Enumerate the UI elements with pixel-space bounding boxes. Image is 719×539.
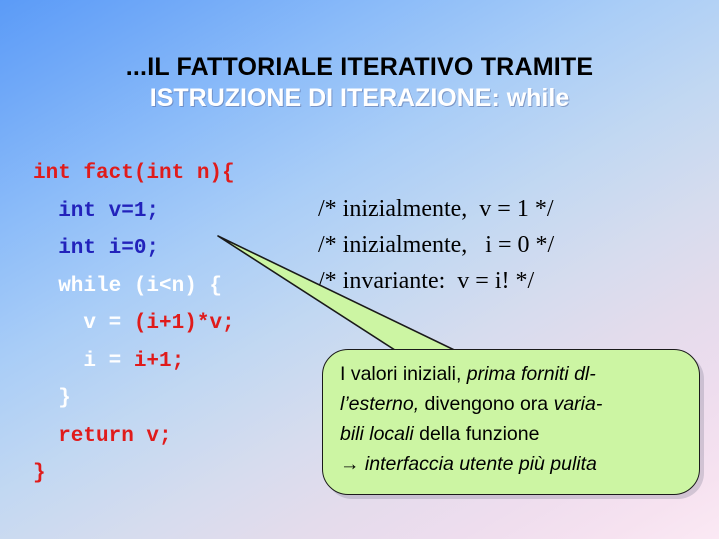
code-line: int i=0; — [33, 230, 235, 268]
code-line: int v=1; — [33, 193, 235, 231]
callout-text-run: divengono ora — [419, 393, 553, 415]
callout-text-run: della funzione — [414, 423, 540, 445]
code-token: i+1; — [134, 350, 184, 373]
callout-line: I valori iniziali, prima forniti dl- — [340, 359, 692, 389]
callout-text-run: varia- — [554, 393, 603, 415]
code-line: } — [33, 455, 235, 493]
callout-text-run: → — [340, 453, 365, 475]
code-line: i = i+1; — [33, 343, 235, 381]
code-token: i = — [33, 350, 134, 373]
code-listing: int fact(int n){ int v=1; int i=0; while… — [33, 155, 235, 493]
code-token: while (i<n) { — [33, 275, 222, 298]
callout-line: → interfaccia utente più pulita — [340, 449, 692, 479]
page-title-line2: ISTRUZIONE DI ITERAZIONE: while — [0, 82, 719, 115]
callout-text-run: interfaccia utente più pulita — [365, 453, 597, 475]
code-comment: /* inizialmente, i = 0 */ — [318, 227, 554, 263]
page-title-line1: ...IL FATTORIALE ITERATIVO TRAMITE — [0, 52, 719, 82]
slide-canvas: ...IL FATTORIALE ITERATIVO TRAMITE ISTRU… — [0, 0, 719, 539]
code-token: int fact(int n){ — [33, 162, 235, 185]
code-comments-column: /* inizialmente, v = 1 *//* inizialmente… — [318, 191, 554, 299]
callout-line: bili locali della funzione — [340, 419, 692, 449]
code-token: } — [33, 462, 46, 485]
callout-text-run: I valori iniziali, — [340, 363, 467, 385]
title-block: ...IL FATTORIALE ITERATIVO TRAMITE ISTRU… — [0, 52, 719, 115]
callout-line: l’esterno, divengono ora varia- — [340, 389, 692, 419]
callout-text-run: prima forniti dl- — [467, 363, 596, 385]
callout-text-run: bili locali — [340, 423, 414, 445]
code-line: v = (i+1)*v; — [33, 305, 235, 343]
code-comment: /* invariante: v = i! */ — [318, 263, 554, 299]
code-line: while (i<n) { — [33, 268, 235, 306]
code-token: int i=0; — [33, 237, 159, 260]
callout-text: I valori iniziali, prima forniti dl-l’es… — [340, 359, 692, 479]
code-token: (i+1)*v; — [134, 312, 235, 335]
code-comment: /* inizialmente, v = 1 */ — [318, 191, 554, 227]
code-token: int v=1; — [33, 200, 159, 223]
code-token: return v; — [33, 425, 172, 448]
code-token: v = — [33, 312, 134, 335]
code-line: return v; — [33, 418, 235, 456]
code-token: } — [33, 387, 71, 410]
callout-balloon: I valori iniziali, prima forniti dl-l’es… — [322, 349, 700, 495]
code-line: } — [33, 380, 235, 418]
callout-text-run: l’esterno, — [340, 393, 419, 415]
code-line: int fact(int n){ — [33, 155, 235, 193]
